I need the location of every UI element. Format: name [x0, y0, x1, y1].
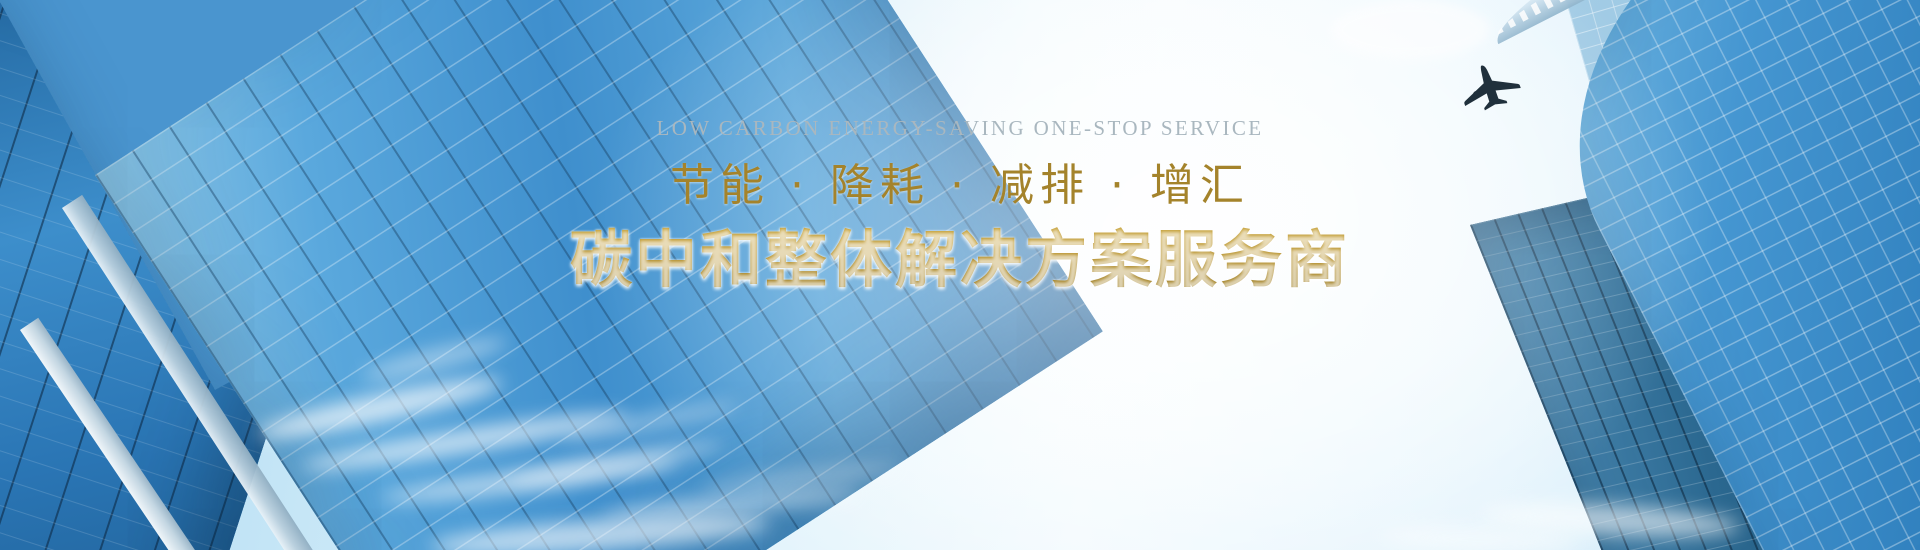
airplane-icon — [1455, 60, 1525, 112]
hero-banner: LOW CARBON ENERGY-SAVING ONE-STOP SERVIC… — [0, 0, 1920, 550]
banner-subtitle-text: 节能 · 降耗 · 减排 · 增汇 — [0, 161, 1920, 212]
banner-eyebrow-text: LOW CARBON ENERGY-SAVING ONE-STOP SERVIC… — [0, 118, 1920, 139]
banner-headline-text: 碳中和整体解决方案服务商 — [0, 226, 1920, 294]
banner-copy: LOW CARBON ENERGY-SAVING ONE-STOP SERVIC… — [0, 118, 1920, 294]
